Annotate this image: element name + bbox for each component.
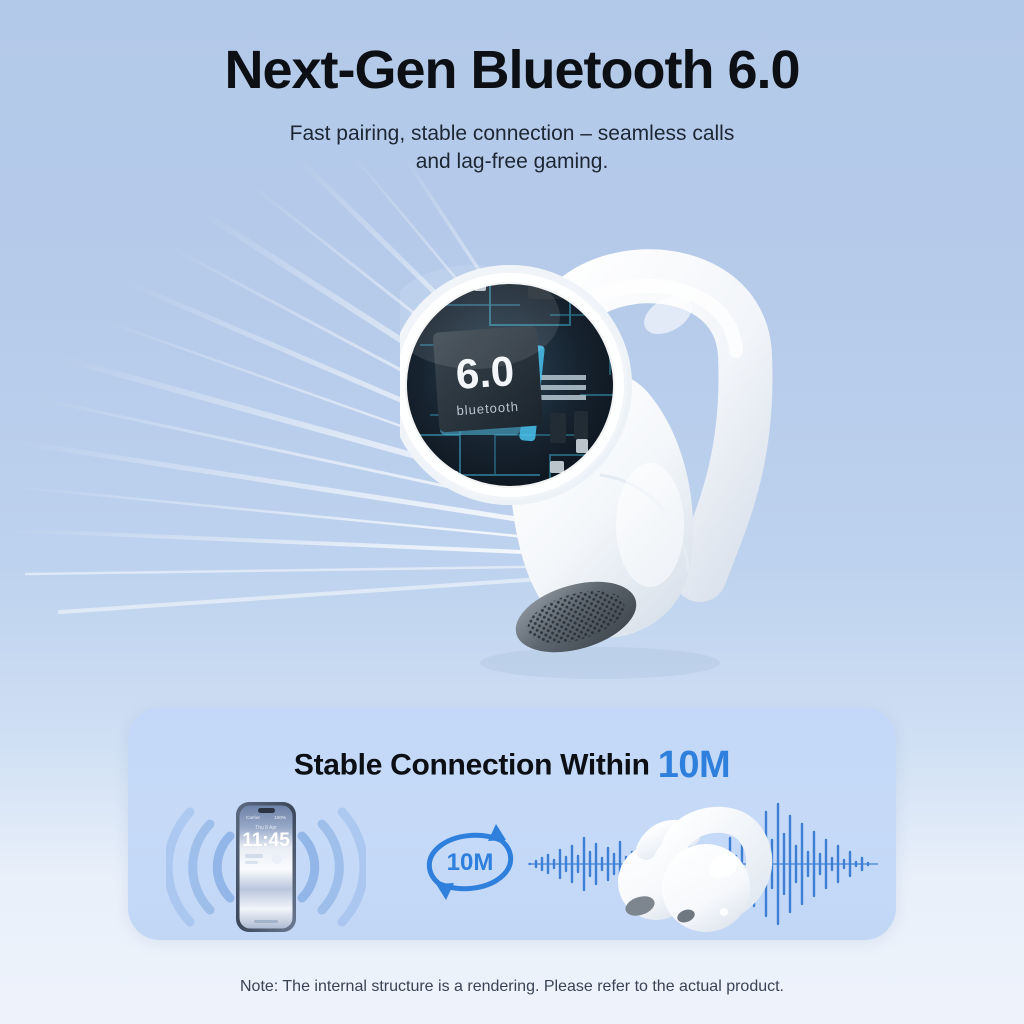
range-badge: 10M	[410, 814, 530, 910]
earbud-front	[662, 844, 750, 932]
phone-mockup: Carrier 100% Thu 8 Apr 11:45	[236, 802, 296, 932]
arrow-head-up	[488, 824, 506, 841]
arrow-head-down	[436, 883, 454, 900]
card-title-highlight: 10M	[658, 744, 730, 786]
card-title-main: Stable Connection Within	[294, 749, 650, 782]
page-title: Next-Gen Bluetooth 6.0	[0, 42, 1024, 99]
card-illustration-row: Carrier 100% Thu 8 Apr 11:45	[128, 800, 896, 930]
wifi-signal-waves-right	[302, 812, 364, 922]
footer-note: Note: The internal structure is a render…	[0, 978, 1024, 996]
product-infographic-page: Next-Gen Bluetooth 6.0 Fast pairing, sta…	[0, 0, 1024, 1024]
subtitle-line-2: and lag-free gaming.	[0, 148, 1024, 176]
wifi-signal-waves-left	[168, 812, 230, 922]
range-badge-label: 10M	[447, 849, 494, 876]
card-title: Stable Connection Within10M	[128, 744, 896, 787]
phone-time-label: 11:45	[242, 830, 290, 851]
phone-with-signal: Carrier 100% Thu 8 Apr 11:45	[166, 792, 366, 940]
stable-connection-card: Stable Connection Within10M	[128, 708, 896, 940]
product-earbud-render: 6.0 bluetooth	[400, 225, 780, 685]
page-subtitle: Fast pairing, stable connection – seamle…	[0, 120, 1024, 176]
phone-carrier-label: Carrier	[246, 815, 261, 820]
earbuds-with-waveform	[528, 794, 878, 934]
subtitle-line-1: Fast pairing, stable connection – seamle…	[290, 122, 735, 145]
phone-battery-label: 100%	[274, 815, 286, 820]
